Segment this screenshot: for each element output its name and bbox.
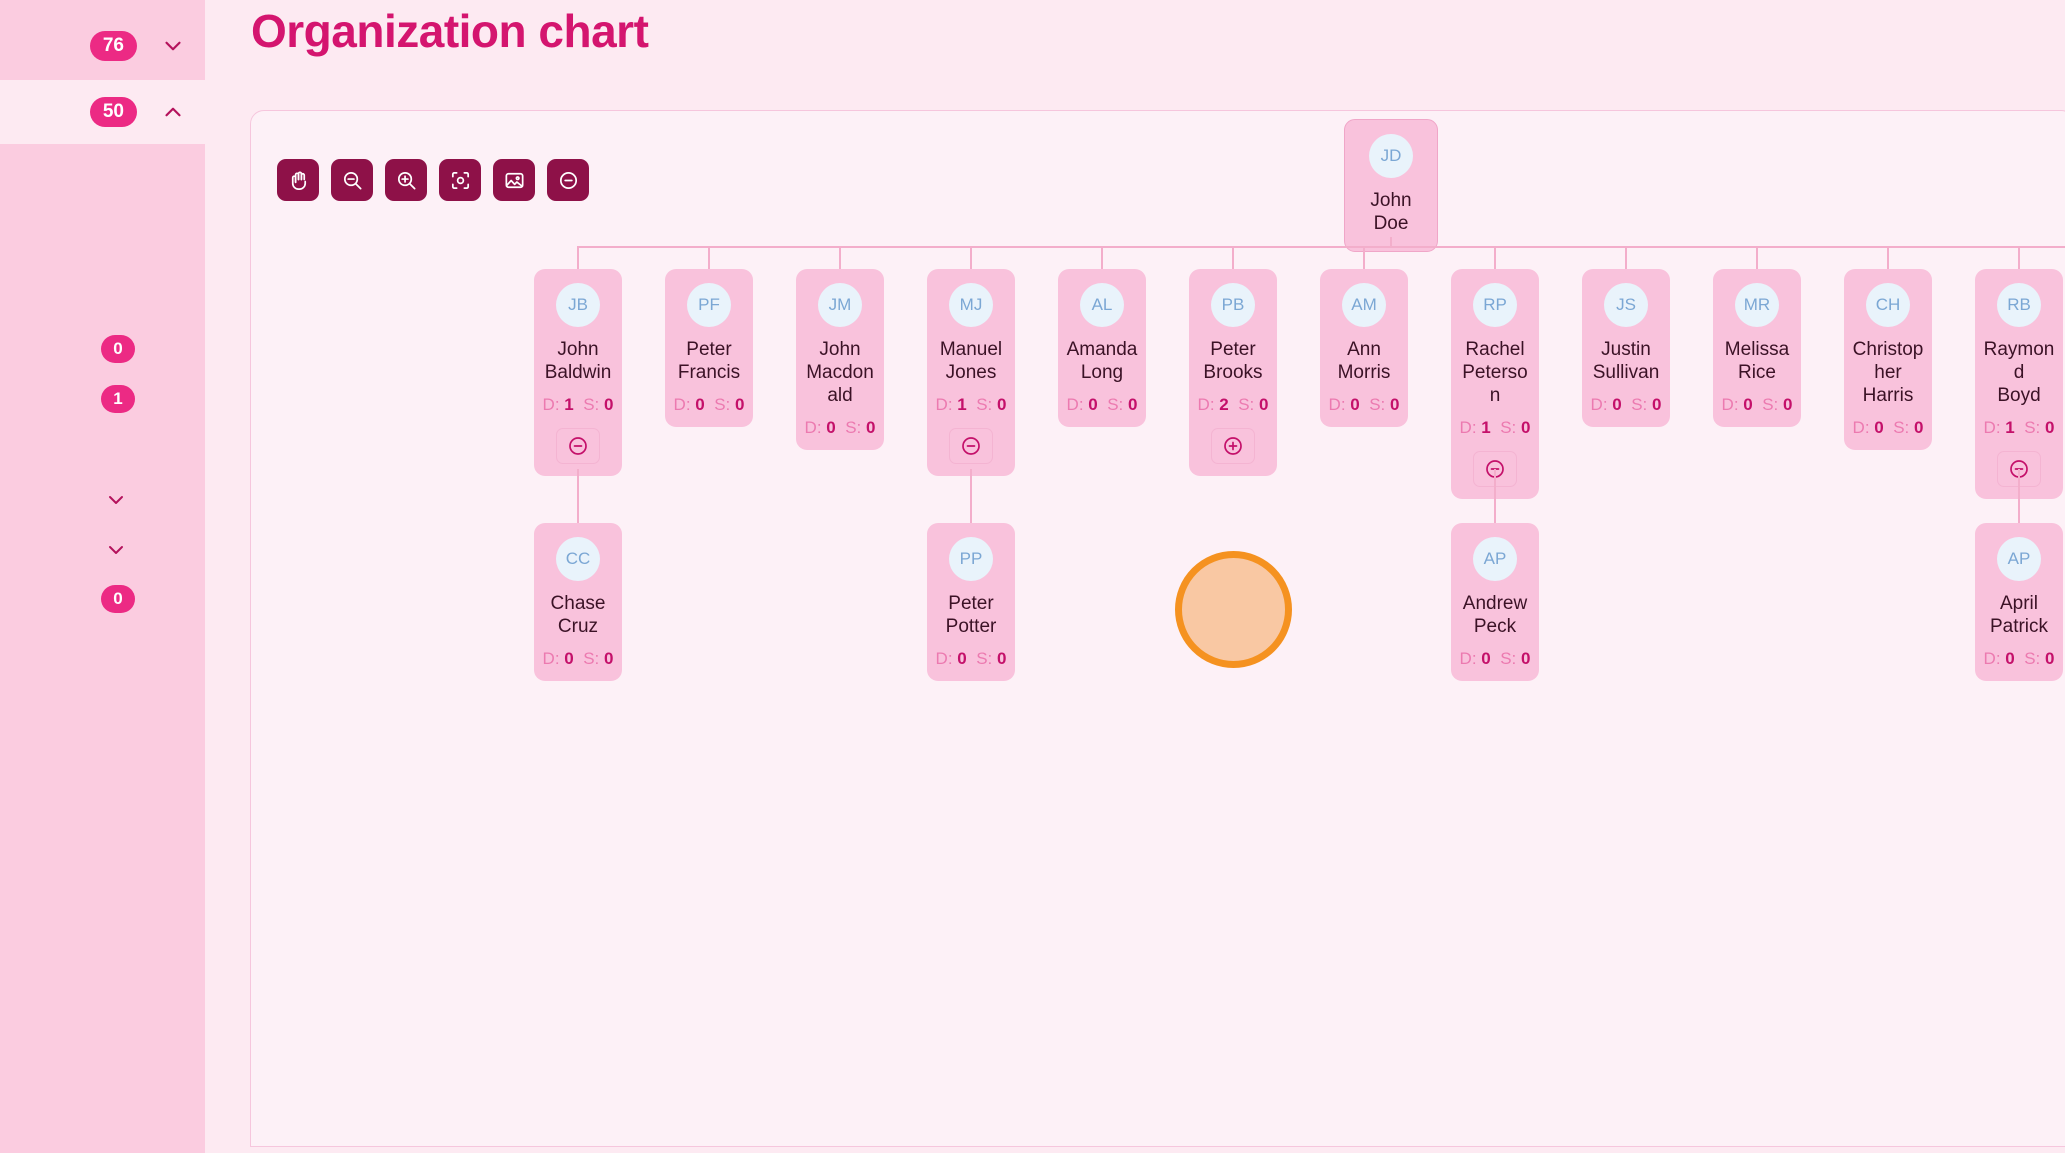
org-node[interactable]: ALAmandaLongD: 0 S: 0 [1058, 269, 1146, 427]
main-content: Organization chart [205, 0, 2065, 1153]
avatar: PB [1211, 283, 1255, 327]
connector-drop [708, 246, 710, 269]
avatar: MR [1735, 283, 1779, 327]
org-node-root[interactable]: JDJohn Doe [1344, 119, 1438, 252]
export-image-icon[interactable] [493, 159, 535, 201]
connector-drop [1101, 246, 1103, 269]
org-node-stats: D: 0 S: 0 [1591, 395, 1662, 415]
avatar: AP [1473, 537, 1517, 581]
org-node-name: JustinSullivan [1593, 338, 1660, 384]
org-node-stats: D: 0 S: 0 [674, 395, 745, 415]
avatar: CH [1866, 283, 1910, 327]
org-node[interactable]: MRMelissaRiceD: 0 S: 0 [1713, 269, 1801, 427]
chevron-down-icon[interactable] [99, 533, 133, 567]
org-node-stats: D: 2 S: 0 [1198, 395, 1269, 415]
expand-node-button[interactable] [1211, 428, 1255, 464]
org-node-stats: D: 1 S: 0 [543, 395, 614, 415]
avatar: JM [818, 283, 862, 327]
org-node[interactable]: CHChristopherHarrisD: 0 S: 0 [1844, 269, 1932, 450]
org-chart-panel: JDJohn DoeJBJohnBaldwinD: 1 S: 0PFPeterF… [250, 110, 2065, 1147]
org-node[interactable]: RBRaymondBoydD: 1 S: 0 [1975, 269, 2063, 499]
connector-drop [1625, 246, 1627, 269]
org-node[interactable]: PBPeterBrooksD: 2 S: 0 [1189, 269, 1277, 476]
org-node[interactable]: PPPeterPotterD: 0 S: 0 [927, 523, 1015, 681]
org-node-name: JohnMacdonald [804, 338, 876, 407]
sidebar-row-1[interactable]: 76 [0, 14, 205, 78]
collapse-node-button[interactable] [949, 428, 993, 464]
connector-drop [970, 246, 972, 269]
org-node-stats: D: 0 S: 0 [543, 649, 614, 669]
avatar: AM [1342, 283, 1386, 327]
org-node[interactable]: CCChaseCruzD: 0 S: 0 [534, 523, 622, 681]
org-node-name: AmandaLong [1067, 338, 1138, 384]
avatar: PP [949, 537, 993, 581]
sidebar-row-2[interactable]: 50 [0, 80, 205, 144]
connector-child [2018, 469, 2020, 523]
chevron-down-icon[interactable] [155, 28, 191, 64]
zoom-in-icon[interactable] [385, 159, 427, 201]
connector-drop [2018, 246, 2020, 269]
org-node[interactable]: JMJohnMacdonaldD: 0 S: 0 [796, 269, 884, 450]
org-node[interactable]: PFPeterFrancisD: 0 S: 0 [665, 269, 753, 427]
avatar: CC [556, 537, 600, 581]
org-node-stats: D: 0 S: 0 [1067, 395, 1138, 415]
chevron-down-icon[interactable] [99, 483, 133, 517]
org-node-stats: D: 0 S: 0 [1984, 649, 2055, 669]
connector-drop [1494, 246, 1496, 269]
org-node-name: ChaseCruz [551, 592, 606, 638]
sidebar-item-badge: 1 [101, 385, 135, 413]
avatar: JS [1604, 283, 1648, 327]
org-node-stats: D: 0 S: 0 [1853, 418, 1924, 438]
org-node-name: RachelPeterson [1459, 338, 1531, 407]
app-root: 76 50 ns 0 1 0 Organization ch [0, 0, 2065, 1153]
connector-drop [1363, 246, 1365, 269]
fit-to-screen-icon[interactable] [439, 159, 481, 201]
org-node-name: AndrewPeck [1463, 592, 1527, 638]
avatar: PF [687, 283, 731, 327]
sidebar: 76 50 ns 0 1 0 [0, 0, 205, 1153]
org-node[interactable]: APAprilPatrickD: 0 S: 0 [1975, 523, 2063, 681]
org-node-name: JohnBaldwin [545, 338, 612, 384]
org-node[interactable]: MJManuelJonesD: 1 S: 0 [927, 269, 1015, 476]
connector-bus [578, 246, 2065, 248]
org-node[interactable]: APAndrewPeckD: 0 S: 0 [1451, 523, 1539, 681]
org-node-name: RaymondBoyd [1983, 338, 2055, 407]
avatar: RP [1473, 283, 1517, 327]
org-chart-canvas[interactable]: JDJohn DoeJBJohnBaldwinD: 1 S: 0PFPeterF… [251, 111, 2065, 1146]
collapse-node-button[interactable] [556, 428, 600, 464]
connector-drop [1232, 246, 1234, 269]
avatar: RB [1997, 283, 2041, 327]
connector-child [577, 469, 579, 523]
page-title: Organization chart [251, 4, 648, 58]
org-node-stats: D: 0 S: 0 [1722, 395, 1793, 415]
org-node[interactable]: AMAnnMorrisD: 0 S: 0 [1320, 269, 1408, 427]
avatar: AP [1997, 537, 2041, 581]
sidebar-item-badge: 0 [101, 335, 135, 363]
org-node-stats: D: 1 S: 0 [1984, 418, 2055, 438]
org-node-name: PeterPotter [946, 592, 997, 638]
chevron-up-icon[interactable] [155, 94, 191, 130]
pan-hand-icon[interactable] [277, 159, 319, 201]
org-node-name: MelissaRice [1725, 338, 1789, 384]
avatar: AL [1080, 283, 1124, 327]
connector-drop [577, 246, 579, 269]
zoom-out-icon[interactable] [331, 159, 373, 201]
org-node-stats: D: 1 S: 0 [936, 395, 1007, 415]
connector-drop [1887, 246, 1889, 269]
connector-child [1494, 469, 1496, 523]
org-node[interactable]: JSJustinSullivanD: 0 S: 0 [1582, 269, 1670, 427]
org-node-stats: D: 0 S: 0 [805, 418, 876, 438]
collapse-all-icon[interactable] [547, 159, 589, 201]
connector-root-stem [1390, 237, 1392, 246]
org-node-name: PeterBrooks [1203, 338, 1262, 384]
org-node[interactable]: RPRachelPetersonD: 1 S: 0 [1451, 269, 1539, 499]
sidebar-badge-count: 50 [90, 97, 137, 127]
org-node-stats: D: 0 S: 0 [1460, 649, 1531, 669]
connector-drop [1756, 246, 1758, 269]
sidebar-badge-count: 76 [90, 31, 137, 61]
avatar: JB [556, 283, 600, 327]
org-node[interactable]: JBJohnBaldwinD: 1 S: 0 [534, 269, 622, 476]
avatar: MJ [949, 283, 993, 327]
avatar: JD [1369, 134, 1413, 178]
org-node-name: AnnMorris [1338, 338, 1391, 384]
connector-child [970, 469, 972, 523]
org-node-name: PeterFrancis [678, 338, 740, 384]
chart-toolbar [277, 159, 589, 201]
org-node-name: ManuelJones [940, 338, 1002, 384]
org-node-stats: D: 1 S: 0 [1460, 418, 1531, 438]
org-node-name: John Doe [1353, 189, 1429, 235]
org-node-name: ChristopherHarris [1852, 338, 1924, 407]
connector-drop [839, 246, 841, 269]
sidebar-item-badge: 0 [101, 585, 135, 613]
org-node-stats: D: 0 S: 0 [936, 649, 1007, 669]
org-node-stats: D: 0 S: 0 [1329, 395, 1400, 415]
org-node-name: AprilPatrick [1990, 592, 2048, 638]
